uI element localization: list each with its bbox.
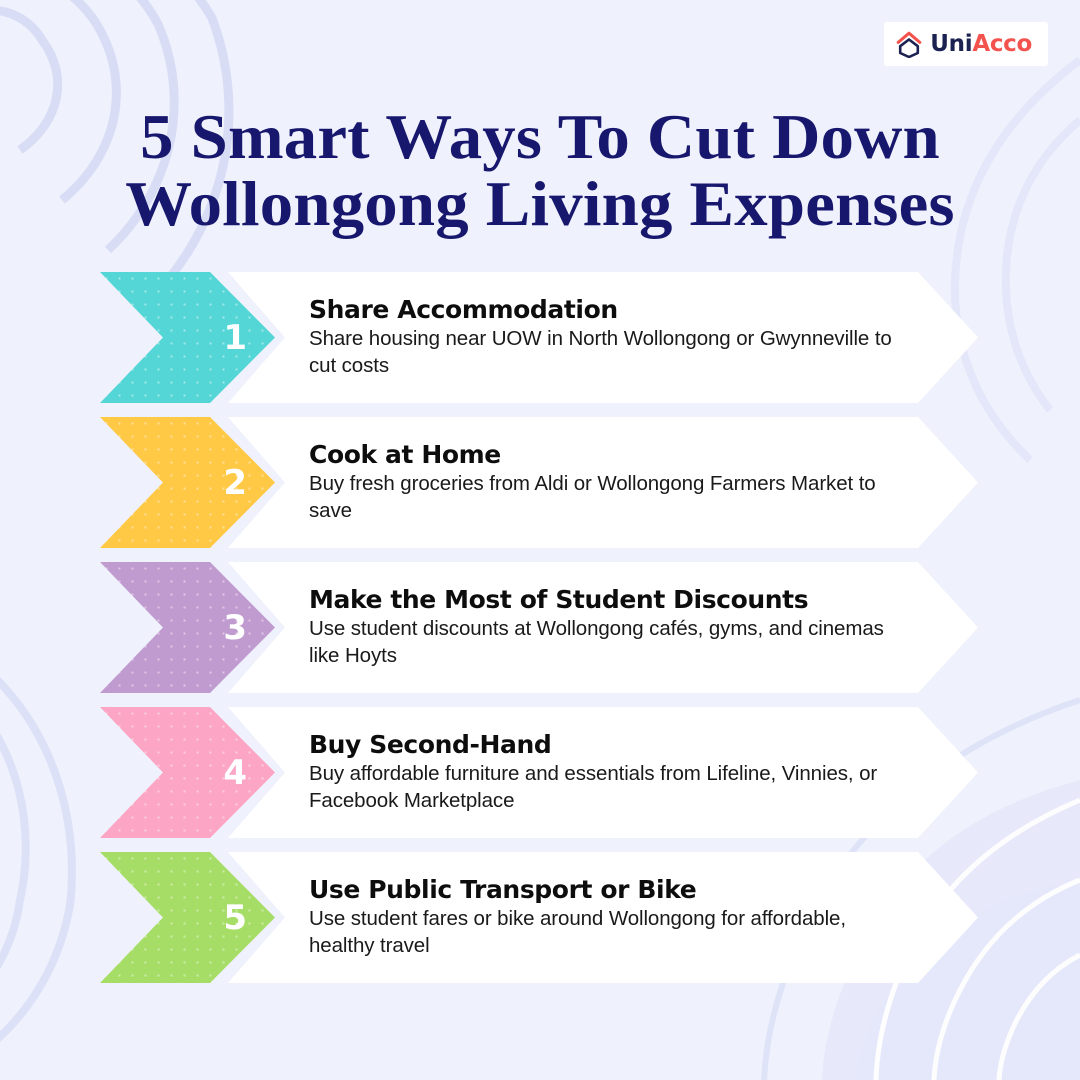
tip-description: Use student fares or bike around Wollong… — [309, 906, 909, 959]
tip-number: 5 — [223, 901, 247, 935]
title-line-2: Wollongong Living Expenses — [0, 171, 1080, 238]
tip-title: Buy Second-Hand — [309, 731, 909, 759]
list-item: 3 Make the Most of Student Discounts Use… — [0, 562, 1080, 693]
tip-description: Buy fresh groceries from Aldi or Wollong… — [309, 471, 909, 524]
list-item: 4 Buy Second-Hand Buy affordable furnitu… — [0, 707, 1080, 838]
tip-title: Cook at Home — [309, 441, 909, 469]
title-line-1: 5 Smart Ways To Cut Down — [0, 104, 1080, 171]
brand-name-acco: Acco — [972, 31, 1032, 57]
list-item: 1 Share Accommodation Share housing near… — [0, 272, 1080, 403]
tip-text: Share Accommodation Share housing near U… — [309, 272, 909, 403]
tip-text: Cook at Home Buy fresh groceries from Al… — [309, 417, 909, 548]
tip-number: 3 — [223, 611, 247, 645]
tip-number: 2 — [223, 466, 247, 500]
tip-text: Buy Second-Hand Buy affordable furniture… — [309, 707, 909, 838]
house-shield-icon — [896, 30, 922, 58]
infographic-poster: UniAcco 5 Smart Ways To Cut Down Wollong… — [0, 0, 1080, 1080]
tip-description: Buy affordable furniture and essentials … — [309, 761, 909, 814]
list-item: 5 Use Public Transport or Bike Use stude… — [0, 852, 1080, 983]
tip-description: Use student discounts at Wollongong café… — [309, 616, 909, 669]
tip-number: 4 — [223, 756, 247, 790]
tip-title: Make the Most of Student Discounts — [309, 586, 909, 614]
tip-title: Share Accommodation — [309, 296, 909, 324]
tips-list: 1 Share Accommodation Share housing near… — [0, 272, 1080, 997]
list-item: 2 Cook at Home Buy fresh groceries from … — [0, 417, 1080, 548]
tip-text: Make the Most of Student Discounts Use s… — [309, 562, 909, 693]
tip-text: Use Public Transport or Bike Use student… — [309, 852, 909, 983]
tip-title: Use Public Transport or Bike — [309, 876, 909, 904]
brand-logo[interactable]: UniAcco — [884, 22, 1048, 66]
tip-description: Share housing near UOW in North Wollongo… — [309, 326, 909, 379]
brand-wordmark: UniAcco — [930, 33, 1032, 56]
page-title: 5 Smart Ways To Cut Down Wollongong Livi… — [0, 104, 1080, 238]
brand-name-uni: Uni — [930, 31, 972, 57]
tip-number: 1 — [223, 321, 247, 355]
